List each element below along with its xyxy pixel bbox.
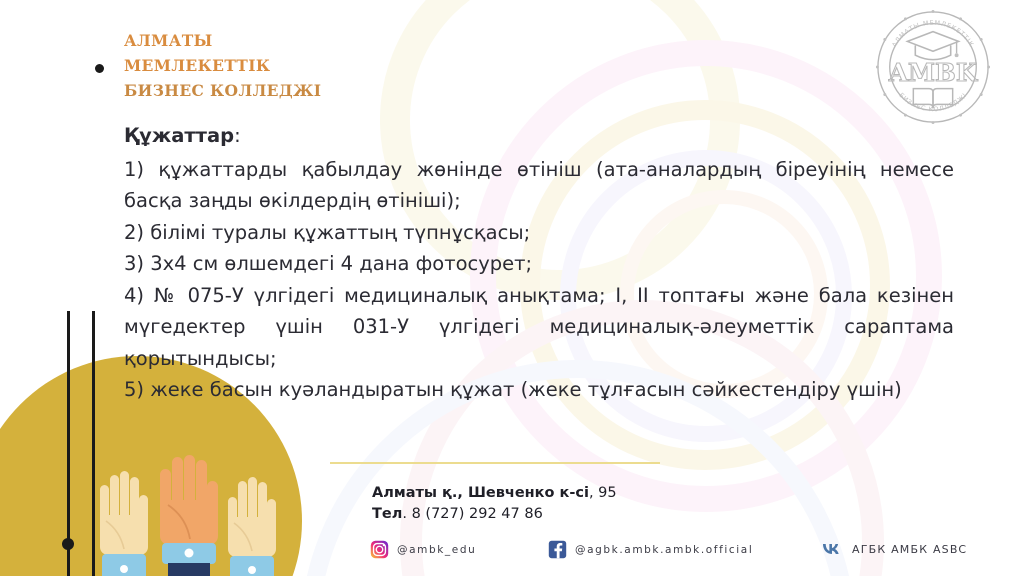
social-link-vk[interactable]: АГБК АМБК ASBC bbox=[818, 540, 967, 558]
social-link-instagram[interactable]: @ambk_edu bbox=[370, 540, 476, 559]
dot-decoration bbox=[62, 538, 74, 550]
footer-address-street: Алматы қ., Шевченко к-сі bbox=[372, 485, 589, 501]
right-hand-shape bbox=[228, 477, 276, 576]
college-name-line-1: АЛМАТЫ bbox=[124, 28, 321, 53]
footer-divider bbox=[330, 462, 660, 464]
vertical-line-decoration bbox=[92, 311, 95, 576]
document-item-1: 1) құжаттарды қабылдау жөнінде өтініш (а… bbox=[124, 154, 954, 217]
documents-heading: Құжаттар: bbox=[124, 120, 954, 152]
center-hand-shape bbox=[160, 455, 218, 576]
ambk-logo-seal: АЛМАТЫ МЕМЛЕКЕТТІК БИЗНЕС КОЛЛЕДЖІ AMBK bbox=[874, 8, 992, 126]
slide-canvas: АЛМАТЫ МЕМЛЕКЕТТІК БИЗНЕС КОЛЛЕДЖІ АЛМАТ… bbox=[0, 0, 1024, 576]
vertical-line-decoration bbox=[67, 311, 70, 576]
footer-contact-block: Алматы қ., Шевченко к-сі, 95 Тел. 8 (727… bbox=[372, 483, 617, 525]
logo-outer-top-text: АЛМАТЫ МЕМЛЕКЕТТІК bbox=[891, 20, 975, 49]
facebook-handle[interactable]: @agbk.ambk.ambk.official bbox=[575, 544, 753, 556]
documents-text-block: Құжаттар: 1) құжаттарды қабылдау жөнінде… bbox=[124, 120, 954, 406]
documents-heading-word: Құжаттар bbox=[124, 124, 234, 147]
instagram-icon[interactable] bbox=[370, 540, 389, 559]
college-name-line-3: БИЗНЕС КОЛЛЕДЖІ bbox=[124, 78, 321, 103]
document-item-4: 4) № 075-У үлгідегі медициналық анықтама… bbox=[124, 280, 954, 375]
footer-phone-label: Тел bbox=[372, 506, 402, 522]
facebook-icon[interactable] bbox=[548, 540, 567, 559]
footer-address-number: , 95 bbox=[589, 485, 617, 501]
document-item-2: 2) білімі туралы құжаттың түпнұсқасы; bbox=[124, 217, 954, 249]
documents-heading-colon: : bbox=[234, 124, 241, 147]
vk-icon[interactable] bbox=[818, 540, 844, 558]
footer-phone-number: . 8 (727) 292 47 86 bbox=[402, 506, 542, 522]
raised-hands-illustration bbox=[96, 455, 306, 576]
header-bullet-icon bbox=[95, 64, 104, 73]
logo-acronym: AMBK bbox=[888, 58, 979, 87]
left-hand-shape bbox=[100, 471, 148, 576]
footer-phone-line: Тел. 8 (727) 292 47 86 bbox=[372, 504, 617, 525]
vk-handle[interactable]: АГБК АМБК ASBC bbox=[852, 543, 967, 556]
social-link-facebook[interactable]: @agbk.ambk.ambk.official bbox=[548, 540, 753, 559]
footer-address-line: Алматы қ., Шевченко к-сі, 95 bbox=[372, 483, 617, 504]
svg-text:АЛМАТЫ МЕМЛЕКЕТТІК: АЛМАТЫ МЕМЛЕКЕТТІК bbox=[891, 20, 975, 49]
college-name-title: АЛМАТЫ МЕМЛЕКЕТТІК БИЗНЕС КОЛЛЕДЖІ bbox=[124, 28, 321, 103]
college-name-line-2: МЕМЛЕКЕТТІК bbox=[124, 53, 321, 78]
graduation-cap-icon bbox=[907, 32, 958, 60]
document-item-3: 3) 3х4 см өлшемдегі 4 дана фотосурет; bbox=[124, 248, 954, 280]
document-item-5: 5) жеке басын куәландыратын құжат (жеке … bbox=[124, 374, 954, 406]
instagram-handle[interactable]: @ambk_edu bbox=[397, 544, 476, 556]
